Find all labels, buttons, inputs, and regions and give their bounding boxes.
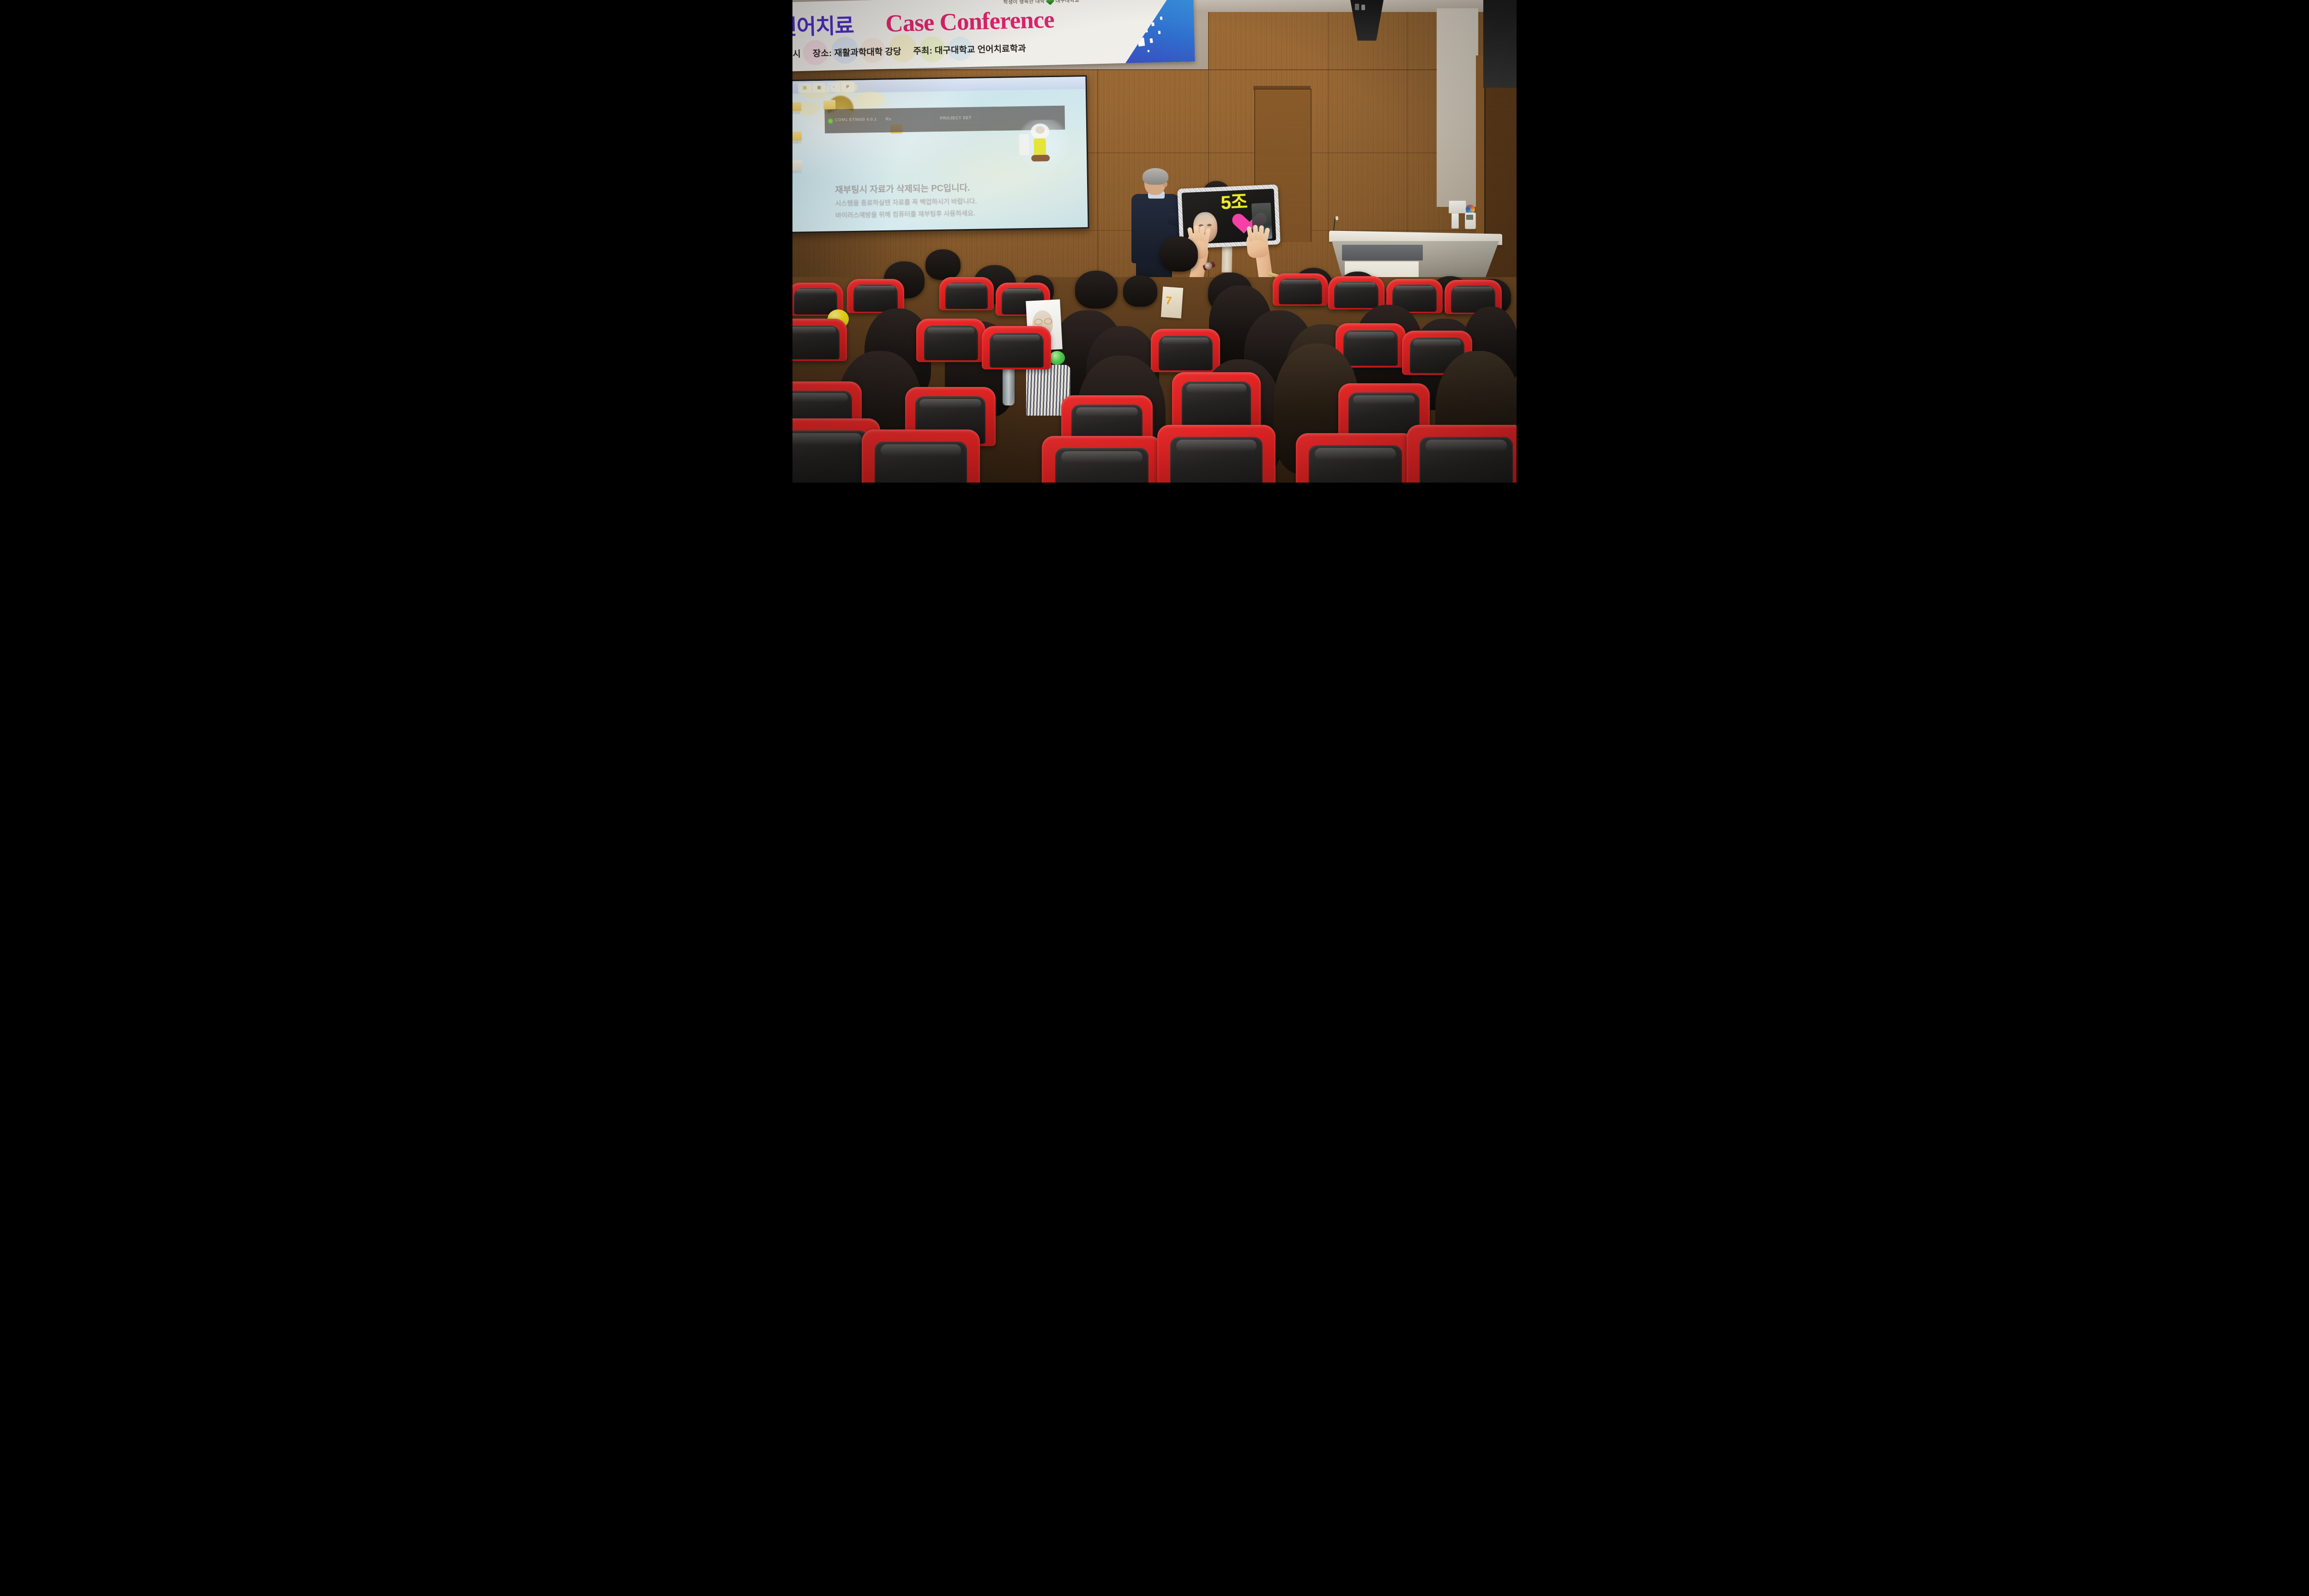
glasses-icon (1034, 318, 1052, 324)
auditorium-seat-foreground[interactable] (1407, 425, 1517, 483)
auditorium-seat-foreground[interactable] (1157, 425, 1275, 483)
auditorium-seat[interactable] (939, 277, 994, 310)
banner-korean-prefix: 언어치료 (792, 9, 854, 41)
projection-screen: 내 문서 강의자료 공용폴더 바로가기 COM1 ET9600 4.0.1 (792, 75, 1089, 233)
banner-time: 후 5시 (792, 47, 801, 60)
wall-speaker-icon (1483, 0, 1517, 88)
auditorium-seat-foreground[interactable] (862, 429, 980, 483)
green-balloon-prop (1049, 351, 1065, 365)
document-taskbar-icon[interactable]: ▣ (813, 82, 826, 92)
audience-head (1075, 271, 1118, 308)
projected-notice-line-1: 재부팅시 자료가 삭제되는 PC입니다. (835, 181, 970, 196)
wall-control-panel[interactable] (1451, 213, 1459, 229)
wall-seam (1328, 12, 1329, 234)
banner-swoosh-graphic (1091, 0, 1195, 72)
university-logo-line: 학생이 행복한 대학 대구대학교 (1003, 0, 1080, 6)
auditorium-seat-foreground[interactable] (1042, 436, 1162, 483)
small-group-placard (1161, 287, 1183, 319)
audience-head (925, 249, 961, 280)
projected-desktop: 내 문서 강의자료 공용폴더 바로가기 COM1 ET9600 4.0.1 (792, 77, 1088, 232)
auditorium-seat[interactable] (847, 279, 904, 313)
presenter-grey-hair (1142, 168, 1168, 185)
folder-taskbar-icon[interactable]: ▤ (798, 83, 811, 92)
desktop-icon-label: 바로가기 (792, 171, 804, 175)
auditorium-seat[interactable] (982, 326, 1051, 369)
status-center-text: PROJECT SET (940, 115, 972, 121)
banner-english-title: Case Conference (885, 6, 1055, 38)
auditorium-seat[interactable] (1273, 273, 1328, 306)
light-switch-plate-icon[interactable] (1449, 200, 1466, 213)
auditorium-seat[interactable] (1328, 276, 1384, 309)
banner-place: 장소: 재활과학대학 강당 (812, 45, 901, 60)
shortcut-icon (792, 161, 803, 170)
banner-host: 주최: 대구대학교 언어치료학과 (913, 42, 1026, 57)
wall-seam (792, 69, 1476, 70)
desktop-icon-label: 공용폴더 (792, 142, 803, 145)
auditorium-seat[interactable] (792, 319, 847, 361)
right-plaster-column (1437, 8, 1478, 207)
audience-head (1160, 236, 1198, 272)
auditorium-seat-foreground[interactable] (1296, 433, 1415, 483)
desktop-icon[interactable]: 바로가기 (792, 161, 804, 175)
folder-icon (823, 100, 835, 109)
event-banner: 학생이 행복한 대학 대구대학교 언어치료 Case Conference 후 … (792, 0, 1195, 72)
podium-control-panel[interactable] (1342, 245, 1423, 260)
status-mid-text: Rx (886, 117, 892, 121)
media-taskbar-icon[interactable]: ◔ (827, 82, 840, 92)
auditorium-scene: 학생이 행복한 대학 대구대학교 언어치료 Case Conference 후 … (792, 0, 1517, 483)
folder-icon (792, 102, 801, 111)
status-left-text: COM1 ET9600 4.0.1 (835, 117, 877, 122)
clipart-character (1017, 120, 1070, 172)
wall-seam (1097, 69, 1098, 282)
desktop-icon[interactable]: 내 문서 (792, 102, 803, 115)
small-placard-number: 7 (1165, 295, 1172, 308)
university-tagline: 학생이 행복한 대학 (1003, 0, 1045, 6)
auditorium-seat[interactable] (1172, 372, 1261, 429)
wall-seam (1407, 12, 1408, 234)
folder-icon (792, 131, 802, 141)
water-bottle-prop (1003, 366, 1015, 405)
auditorium-seat[interactable] (1151, 329, 1220, 372)
group-number-label: 5조 (1221, 193, 1248, 212)
audience-head (1123, 275, 1157, 307)
green-diamond-logo-icon (1046, 0, 1054, 5)
projected-notice-line-3: 바이러스예방을 위해 컴퓨터를 재부팅후 사용하세요. (835, 209, 975, 220)
desktop-icon-label: 내 문서 (792, 112, 803, 115)
auditorium-seat[interactable] (916, 319, 985, 362)
green-status-dot-icon (828, 119, 833, 123)
ac-display-screen (1466, 215, 1473, 220)
windows-taskbar[interactable]: ▤ ▣ ◔ P (792, 77, 1088, 94)
powerpoint-taskbar-icon[interactable]: P (841, 82, 854, 91)
university-name: 대구대학교 (1055, 0, 1079, 4)
desktop-icon[interactable]: 공용폴더 (792, 131, 803, 145)
microphone-icon (1336, 216, 1338, 220)
projected-notice-line-2: 시스템을 종료하실땐 자료를 꼭 백업하시기 바랍니다. (835, 197, 977, 208)
